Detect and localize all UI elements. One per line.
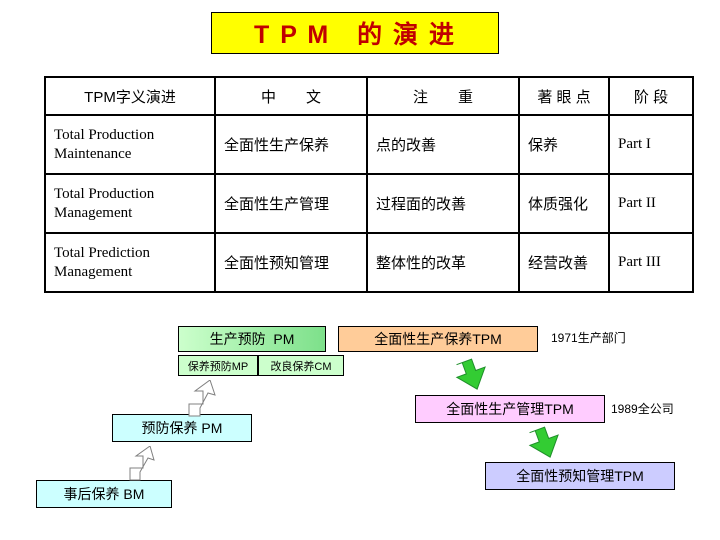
arrow-green-management-to-prediction-icon: [528, 426, 572, 462]
flow-box-improvement-maintenance: 改良保养CM: [258, 355, 344, 376]
evolution-flow-diagram: 生产预防 PM 全面性生产保养TPM 保养预防MP 改良保养CM 全面性生产管理…: [0, 0, 720, 540]
flow-box-breakdown-maintenance: 事后保养 BM: [36, 480, 172, 508]
arrow-pm-to-production-prevention-icon: [185, 380, 229, 418]
note-1989: 1989全公司: [611, 400, 674, 417]
flow-box-total-production-maintenance: 全面性生产保养TPM: [338, 326, 538, 352]
arrow-green-tpm-to-management-icon: [455, 358, 499, 394]
flow-box-maintenance-prevention: 保养预防MP: [178, 355, 258, 376]
flow-box-preventive-maintenance: 预防保养 PM: [112, 414, 252, 442]
flow-box-total-production-management: 全面性生产管理TPM: [415, 395, 605, 423]
flow-box-production-prevention: 生产预防 PM: [178, 326, 326, 352]
arrow-bm-to-pm-icon: [124, 446, 164, 482]
note-1971: 1971生产部门: [551, 329, 626, 346]
flow-box-total-prediction-management: 全面性预知管理TPM: [485, 462, 675, 490]
